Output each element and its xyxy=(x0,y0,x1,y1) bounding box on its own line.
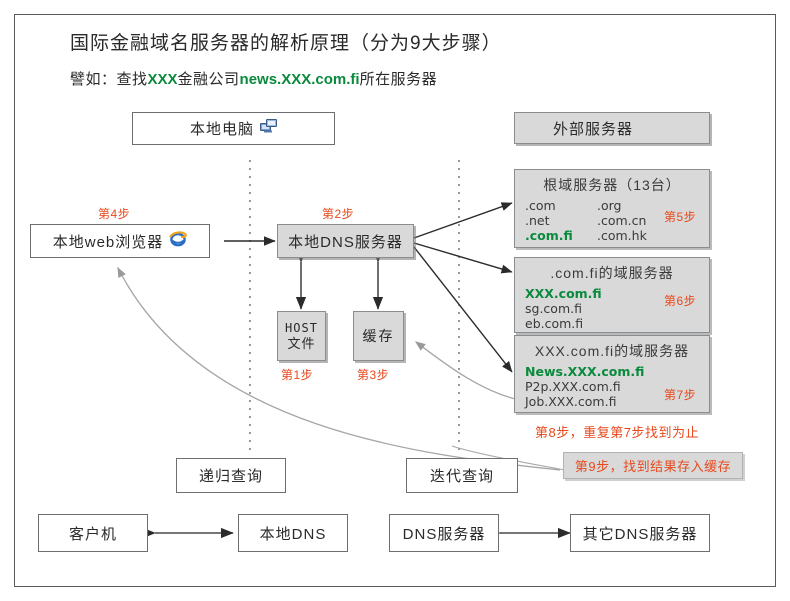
root-server-panel-header: 根域服务器（13台） xyxy=(515,170,709,195)
page-title: 国际金融域名服务器的解析原理（分为9大步骤） xyxy=(70,28,502,55)
root-row2-left: .net xyxy=(525,213,597,228)
local-computer-box[interactable]: 本地电脑 xyxy=(132,112,335,145)
external-server-label: 外部服务器 xyxy=(553,118,633,139)
dns-server-label: DNS服务器 xyxy=(403,523,486,544)
other-dns-server-label: 其它DNS服务器 xyxy=(583,523,698,544)
host-file-box[interactable]: HOST 文件 xyxy=(277,311,326,361)
external-server-box[interactable]: 外部服务器 xyxy=(514,112,710,144)
subtitle-company: XXX xyxy=(148,71,178,88)
iterative-query-box[interactable]: 迭代查询 xyxy=(406,458,518,493)
arrow-dns-to-comfi xyxy=(414,243,512,272)
step3-label: 第3步 xyxy=(357,366,389,383)
root-row1-right: .org xyxy=(597,198,621,213)
diagram-canvas: 国际金融域名服务器的解析原理（分为9大步骤） 譬如：查找XXX金融公司news.… xyxy=(0,0,790,601)
subtitle-domain: news.XXX.com.fi xyxy=(240,71,360,88)
curve-answer-to-browser xyxy=(118,268,560,470)
recursive-query-label: 递归查询 xyxy=(199,465,263,486)
local-dns-server-box[interactable]: 本地DNS服务器 xyxy=(277,224,414,258)
local-dns-label: 本地DNS xyxy=(260,523,327,544)
root-row3-left: .com.fi xyxy=(525,228,597,243)
root-row1-left: .com xyxy=(525,198,597,213)
web-browser-label: 本地web浏览器 xyxy=(53,231,164,252)
web-browser-box[interactable]: 本地web浏览器 xyxy=(30,224,210,258)
page-subtitle: 譬如：查找XXX金融公司news.XXX.com.fi所在服务器 xyxy=(70,68,437,89)
root-row2-right: .com.cn xyxy=(597,213,646,228)
dns-server-box[interactable]: DNS服务器 xyxy=(389,514,499,552)
subtitle-middle: 金融公司 xyxy=(178,71,240,88)
list-item: News.XXX.com.fi xyxy=(525,364,709,379)
list-item: .com.fi.com.hk xyxy=(525,228,709,243)
step5-label: 第5步 xyxy=(664,208,696,225)
step2-label: 第2步 xyxy=(322,205,354,222)
host-file-line2: 文件 xyxy=(287,336,315,352)
cache-box[interactable]: 缓存 xyxy=(353,311,404,361)
other-dns-server-box[interactable]: 其它DNS服务器 xyxy=(570,514,710,552)
arrow-dns-to-xxxcomfi xyxy=(414,247,512,372)
local-dns-box[interactable]: 本地DNS xyxy=(238,514,348,552)
cache-label: 缓存 xyxy=(363,326,395,346)
recursive-query-box[interactable]: 递归查询 xyxy=(176,458,286,493)
network-computer-icon xyxy=(260,119,277,138)
internet-explorer-icon xyxy=(169,231,187,251)
iterative-query-label: 迭代查询 xyxy=(430,465,494,486)
step9-label: 第9步，找到结果存入缓存 xyxy=(575,456,731,475)
xxxcomfi-server-panel-header: XXX.com.fi的域服务器 xyxy=(515,336,709,361)
comfi-server-panel-header: .com.fi的域服务器 xyxy=(515,258,709,283)
client-label: 客户机 xyxy=(69,523,117,544)
local-computer-label: 本地电脑 xyxy=(190,118,254,139)
step6-label: 第6步 xyxy=(664,292,696,309)
curve-result-to-cache xyxy=(416,342,520,400)
subtitle-suffix: 所在服务器 xyxy=(360,71,438,88)
step4-label: 第4步 xyxy=(98,205,130,222)
client-box[interactable]: 客户机 xyxy=(38,514,148,552)
host-file-line1: HOST xyxy=(285,320,318,336)
step1-label: 第1步 xyxy=(281,366,313,383)
step9-callout-box[interactable]: 第9步，找到结果存入缓存 xyxy=(563,452,743,479)
list-item: eb.com.fi xyxy=(525,316,709,331)
subtitle-prefix: 譬如：查找 xyxy=(70,71,148,88)
step8-note: 第8步，重复第7步找到为止 xyxy=(535,422,699,441)
step7-label: 第7步 xyxy=(664,386,696,403)
arrow-dns-to-root xyxy=(414,203,512,238)
local-dns-server-label: 本地DNS服务器 xyxy=(288,231,403,252)
root-row3-right: .com.hk xyxy=(597,228,647,243)
